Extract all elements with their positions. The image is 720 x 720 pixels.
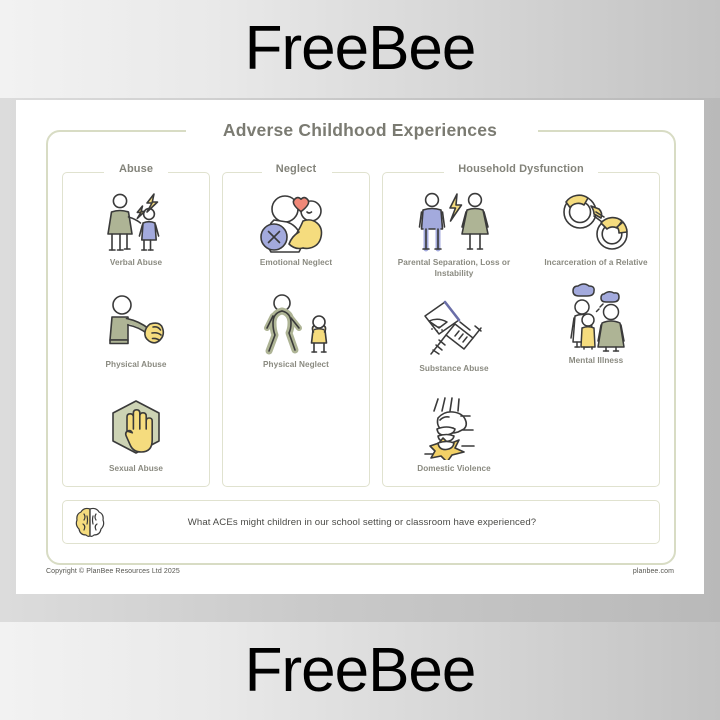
adult-walking-away-from-child-icon xyxy=(222,292,370,356)
freebee-banner-top-label: FreeBee xyxy=(245,18,476,80)
item-label: Verbal Abuse xyxy=(62,258,210,269)
freebee-banner-top: FreeBee xyxy=(0,0,720,98)
adult-fist-striking-icon xyxy=(62,292,210,356)
page-title: Adverse Childhood Experiences xyxy=(0,120,720,141)
item-label: Parental Separation, Loss or Instability xyxy=(378,258,530,279)
column-header-abuse: Abuse xyxy=(62,163,210,175)
two-parents-split-lightning-icon xyxy=(378,190,530,254)
item-incarceration-of-a-relative: Incarceration of a Relative xyxy=(524,190,668,269)
freebee-banner-bottom: FreeBee xyxy=(0,622,720,720)
freebee-banner-bottom-label: FreeBee xyxy=(245,640,476,702)
adult-shouting-at-child-icon xyxy=(62,190,210,254)
column-header-neglect: Neglect xyxy=(222,163,370,175)
item-label: Emotional Neglect xyxy=(222,258,370,269)
question-text: What ACEs might children in our school s… xyxy=(105,517,659,528)
item-label: Mental Illness xyxy=(524,356,668,367)
item-physical-abuse: Physical Abuse xyxy=(62,292,210,371)
question-bar: What ACEs might children in our school s… xyxy=(62,500,660,544)
item-label: Sexual Abuse xyxy=(62,464,210,475)
adult-holding-child-heart-blocked-icon xyxy=(222,190,370,254)
item-sexual-abuse: Sexual Abuse xyxy=(62,396,210,475)
item-label: Domestic Violence xyxy=(382,464,526,475)
handcuffs-icon xyxy=(524,190,668,254)
item-parental-separation: Parental Separation, Loss or Instability xyxy=(378,190,530,279)
syringe-and-powder-icon xyxy=(382,296,526,360)
hand-stop-hexagon-icon xyxy=(62,396,210,460)
item-label: Incarceration of a Relative xyxy=(524,258,668,269)
fist-impact-icon xyxy=(382,396,526,460)
item-label: Substance Abuse xyxy=(382,364,526,375)
footer-website: planbee.com xyxy=(633,568,674,575)
item-label: Physical Abuse xyxy=(62,360,210,371)
footer-copyright: Copyright © PlanBee Resources Ltd 2025 xyxy=(46,568,180,575)
screenshot-root: FreeBee Adverse Childhood Experiences Ab… xyxy=(0,0,720,720)
item-physical-neglect: Physical Neglect xyxy=(222,292,370,371)
item-emotional-neglect: Emotional Neglect xyxy=(222,190,370,269)
item-mental-illness: Mental Illness xyxy=(524,288,668,367)
item-verbal-abuse: Verbal Abuse xyxy=(62,190,210,269)
column-header-household-dysfunction: Household Dysfunction xyxy=(382,163,660,175)
item-label: Physical Neglect xyxy=(222,360,370,371)
brain-icon xyxy=(75,506,105,538)
item-substance-abuse: Substance Abuse xyxy=(382,296,526,375)
item-domestic-violence: Domestic Violence xyxy=(382,396,526,475)
figures-with-thought-clouds-icon xyxy=(524,288,668,352)
